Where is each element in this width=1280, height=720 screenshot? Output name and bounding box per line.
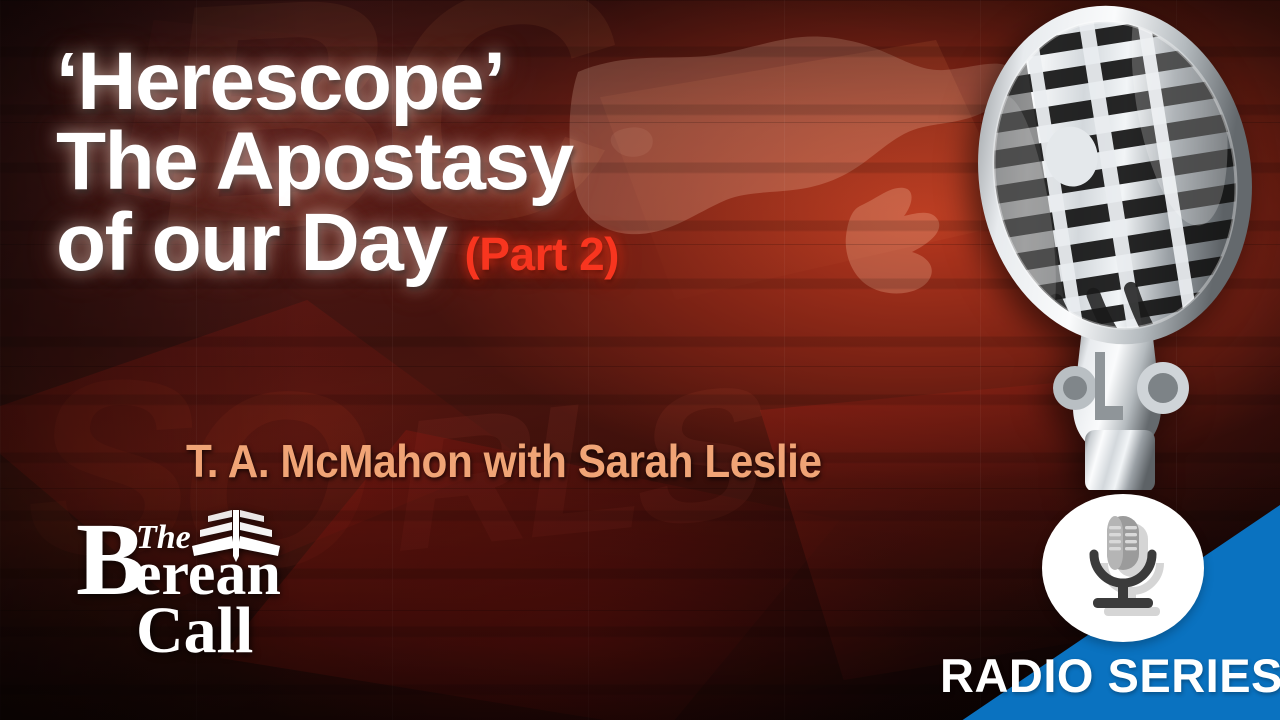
title-line-3: of our Day xyxy=(56,203,446,283)
title-line-3-row: of our Day (Part 2) xyxy=(56,203,896,283)
microphone-icon xyxy=(1075,512,1171,624)
title-line-1: ‘Herescope’ xyxy=(56,42,896,122)
logo-word-call: Call xyxy=(136,594,253,656)
title-line-2: The Apostasy xyxy=(56,122,896,202)
speakers-byline: T. A. McMahon with Sarah Leslie xyxy=(186,434,822,488)
thumbnail-canvas: BC SO RLS xyxy=(0,0,1280,720)
radio-series-icon-circle xyxy=(1042,494,1204,642)
title-block: ‘Herescope’ The Apostasy of our Day (Par… xyxy=(56,42,896,283)
berean-call-logo: B The erean Call xyxy=(72,506,352,656)
radio-series-label: RADIO SERIES xyxy=(940,648,1270,703)
part-number-badge: (Part 2) xyxy=(464,232,618,277)
vintage-microphone-icon xyxy=(955,0,1280,490)
